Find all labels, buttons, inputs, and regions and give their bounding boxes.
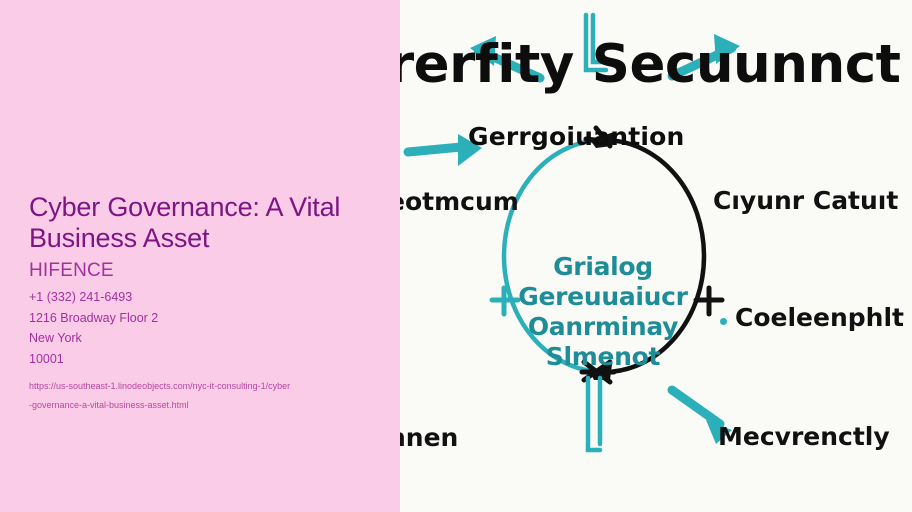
center-line-2: Gereuuaiucr (512, 282, 694, 312)
diagram-label-right-top: Cıyunr Catuıt (713, 186, 898, 215)
source-url[interactable]: https://us-southeast-1.linodeobjects.com… (29, 377, 379, 415)
diagram-label-left-top: eotmcum (400, 187, 519, 216)
diagram-heading: rerfity Secuunnct (400, 34, 901, 95)
diagram-center-text: Grialog Gereuuaiucr Oanrminay Slmenot (512, 252, 694, 372)
center-line-1: Grialog (512, 252, 694, 282)
source-url-line-1[interactable]: https://us-southeast-1.linodeobjects.com… (29, 377, 379, 396)
center-line-4: Slmenot (512, 342, 694, 372)
contact-street: 1216 Broadway Floor 2 (29, 308, 379, 329)
contact-phone[interactable]: +1 (332) 241-6493 (29, 287, 379, 308)
diagram-label-bottom-right: Mecvrenctly (718, 422, 890, 451)
diagram-label-right-middle: Coeleenphlt (735, 303, 904, 332)
contact-zip: 10001 (29, 349, 379, 370)
bullet-dot-icon (720, 318, 727, 325)
contact-city: New York (29, 328, 379, 349)
page-root: Cyber Governance: A Vital Business Asset… (0, 0, 912, 512)
source-url-line-2[interactable]: -governance-a-vital-business-asset.html (29, 396, 379, 415)
diagram-subheading: Gerrgoiuantion (468, 122, 685, 151)
left-info-panel: Cyber Governance: A Vital Business Asset… (0, 0, 400, 512)
article-illustration: rerfity Secuunnct Gerrgoiuantion eotmcum… (400, 0, 912, 512)
center-line-3: Oanrminay (512, 312, 694, 342)
diagram-label-left-bottom: nnen (400, 423, 458, 452)
page-title: Cyber Governance: A Vital Business Asset (29, 192, 359, 254)
article-info-block: Cyber Governance: A Vital Business Asset… (29, 192, 379, 415)
brand-name: HIFENCE (29, 260, 379, 282)
arrow-down-stem-icon (588, 378, 600, 450)
